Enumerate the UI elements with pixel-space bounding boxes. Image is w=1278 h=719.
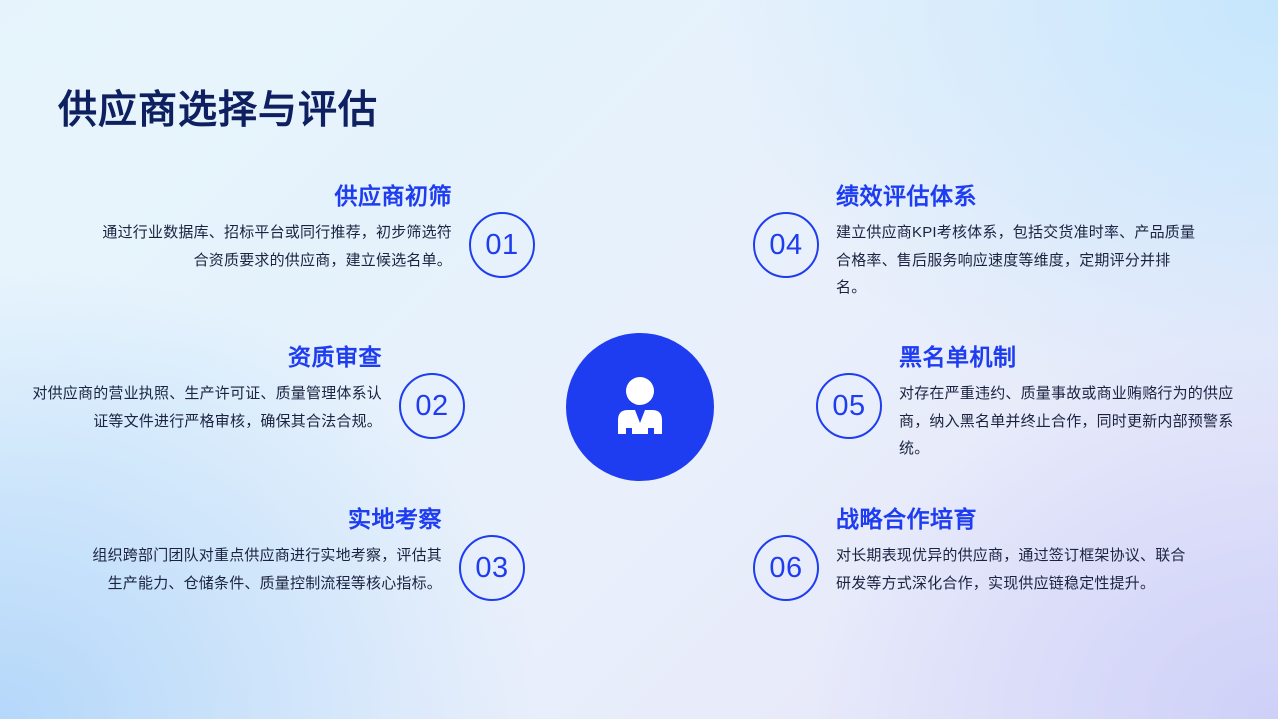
step-number-badge-03[interactable]: 03	[459, 535, 525, 601]
step-text-02: 资质审查 对供应商的营业执照、生产许可证、质量管理体系认证等文件进行严格审核，确…	[22, 343, 382, 435]
step-number-badge-02[interactable]: 02	[399, 373, 465, 439]
step-title-01: 供应商初筛	[92, 182, 452, 211]
person-icon	[608, 376, 672, 438]
step-title-06: 战略合作培育	[836, 505, 1196, 534]
step-desc-02: 对供应商的营业执照、生产许可证、质量管理体系认证等文件进行严格审核，确保其合法合…	[22, 380, 382, 436]
step-title-03: 实地考察	[82, 505, 442, 534]
step-number-badge-04[interactable]: 04	[753, 212, 819, 278]
step-text-04: 绩效评估体系 建立供应商KPI考核体系，包括交货准时率、产品质量合格率、售后服务…	[836, 182, 1196, 302]
step-desc-05: 对存在严重违约、质量事故或商业贿赂行为的供应商，纳入黑名单并终止合作，同时更新内…	[899, 380, 1259, 463]
process-step-06[interactable]: 战略合作培育 对长期表现优异的供应商，通过签订框架协议、联合研发等方式深化合作，…	[753, 505, 1196, 601]
process-step-03[interactable]: 实地考察 组织跨部门团队对重点供应商进行实地考察，评估其生产能力、仓储条件、质量…	[82, 505, 525, 601]
step-number-badge-06[interactable]: 06	[753, 535, 819, 601]
step-desc-06: 对长期表现优异的供应商，通过签订框架协议、联合研发等方式深化合作，实现供应链稳定…	[836, 542, 1196, 598]
step-text-01: 供应商初筛 通过行业数据库、招标平台或同行推荐，初步筛选符合资质要求的供应商，建…	[92, 182, 452, 274]
step-text-05: 黑名单机制 对存在严重违约、质量事故或商业贿赂行为的供应商，纳入黑名单并终止合作…	[899, 343, 1259, 463]
step-title-04: 绩效评估体系	[836, 182, 1196, 211]
slide-canvas: 供应商选择与评估 供应商初筛 通过行业数据库、招标平台或同行推荐，初步筛选符合资…	[0, 0, 1278, 719]
step-text-06: 战略合作培育 对长期表现优异的供应商，通过签订框架协议、联合研发等方式深化合作，…	[836, 505, 1196, 597]
step-number-badge-01[interactable]: 01	[469, 212, 535, 278]
process-step-05[interactable]: 黑名单机制 对存在严重违约、质量事故或商业贿赂行为的供应商，纳入黑名单并终止合作…	[816, 343, 1259, 463]
step-text-03: 实地考察 组织跨部门团队对重点供应商进行实地考察，评估其生产能力、仓储条件、质量…	[82, 505, 442, 597]
page-title: 供应商选择与评估	[58, 79, 378, 135]
step-desc-03: 组织跨部门团队对重点供应商进行实地考察，评估其生产能力、仓储条件、质量控制流程等…	[82, 542, 442, 598]
process-step-01[interactable]: 供应商初筛 通过行业数据库、招标平台或同行推荐，初步筛选符合资质要求的供应商，建…	[92, 182, 535, 278]
center-medallion	[566, 333, 714, 481]
process-step-04[interactable]: 绩效评估体系 建立供应商KPI考核体系，包括交货准时率、产品质量合格率、售后服务…	[753, 182, 1196, 302]
step-desc-01: 通过行业数据库、招标平台或同行推荐，初步筛选符合资质要求的供应商，建立候选名单。	[92, 219, 452, 275]
step-number-badge-05[interactable]: 05	[816, 373, 882, 439]
step-title-02: 资质审查	[22, 343, 382, 372]
step-desc-04: 建立供应商KPI考核体系，包括交货准时率、产品质量合格率、售后服务响应速度等维度…	[836, 219, 1196, 302]
step-title-05: 黑名单机制	[899, 343, 1259, 372]
process-step-02[interactable]: 资质审查 对供应商的营业执照、生产许可证、质量管理体系认证等文件进行严格审核，确…	[22, 343, 465, 439]
